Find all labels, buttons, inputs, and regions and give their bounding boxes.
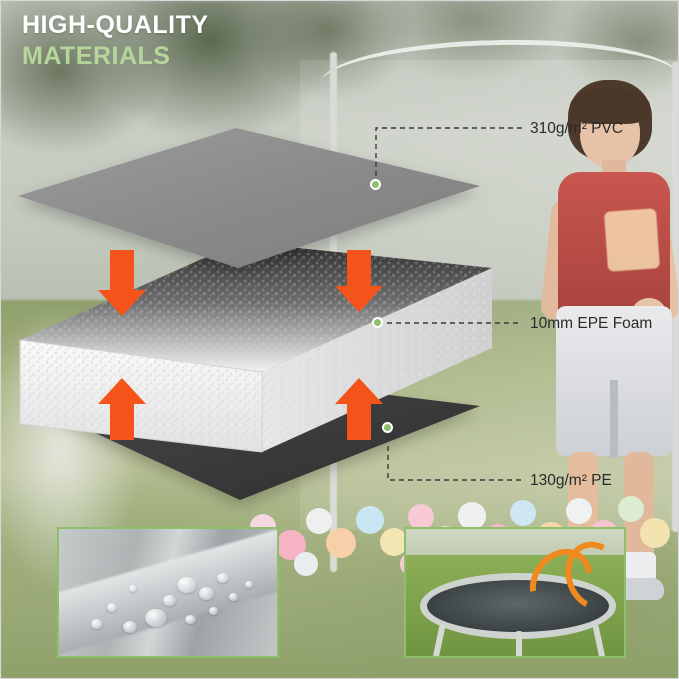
water-droplet xyxy=(185,615,196,624)
ball xyxy=(294,552,318,576)
product-infographic: HIGH-QUALITY MATERIALS xyxy=(0,0,679,679)
heading-line-2: MATERIALS xyxy=(22,41,209,72)
callout-label-foam: 10mm EPE Foam xyxy=(530,315,652,333)
marker-dot-pe xyxy=(382,422,393,433)
water-droplet xyxy=(217,573,229,583)
inset-trampoline-straps xyxy=(404,527,626,658)
inset-waterproof-fabric xyxy=(57,527,279,658)
callout-label-pvc: 310g/m² PVC xyxy=(530,120,623,138)
ball xyxy=(618,496,644,522)
water-droplet xyxy=(199,587,214,600)
child-shorts-seam xyxy=(610,380,618,458)
ball xyxy=(306,508,332,534)
water-droplet xyxy=(245,581,253,588)
ball xyxy=(356,506,384,534)
water-droplet xyxy=(163,595,176,606)
child-shirt-print xyxy=(604,208,660,271)
heading-block: HIGH-QUALITY MATERIALS xyxy=(22,10,209,72)
water-droplet xyxy=(123,621,137,633)
water-droplet xyxy=(91,619,103,629)
child-hair-fringe xyxy=(570,88,650,124)
ball xyxy=(640,518,670,548)
heading-line-1: HIGH-QUALITY xyxy=(22,10,209,41)
water-droplet xyxy=(209,607,218,615)
ball xyxy=(326,528,356,558)
ball xyxy=(566,498,592,524)
water-droplet xyxy=(229,593,238,601)
trampoline-leg xyxy=(516,631,522,658)
water-droplet xyxy=(145,609,167,627)
ball xyxy=(510,500,536,526)
callout-label-pe: 130g/m² PE xyxy=(530,472,612,490)
marker-dot-foam xyxy=(372,317,383,328)
marker-dot-pvc xyxy=(370,179,381,190)
ball xyxy=(458,502,486,530)
water-droplet xyxy=(107,603,117,612)
water-droplet xyxy=(177,577,197,593)
water-droplet xyxy=(129,585,137,592)
